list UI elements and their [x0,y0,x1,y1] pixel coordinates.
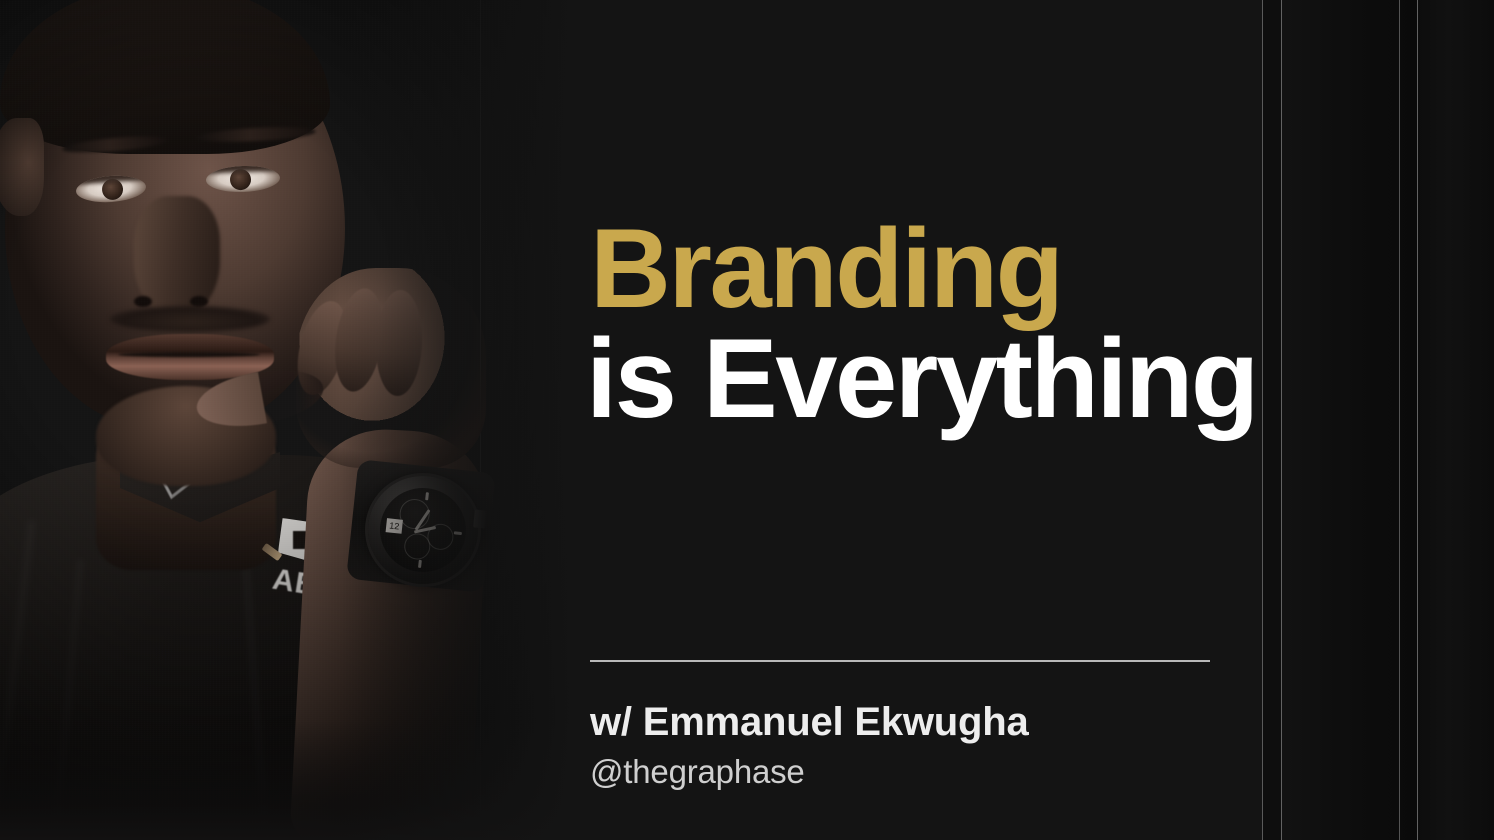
watch-index [425,492,429,500]
title-line-accent: Branding [590,214,1330,324]
social-handle: @thegraphase [590,753,805,791]
branding-slide: AB'ARD [0,0,1494,840]
background-panel-far-edge [1418,0,1494,840]
nostril [134,296,152,307]
title-line-white: is Everything [586,324,1330,434]
hairline-5 [1417,0,1418,840]
lip-line [118,352,260,357]
moustache [110,306,270,332]
presenter-name: w/ Emmanuel Ekwugha [590,700,1029,745]
section-divider [590,660,1210,662]
hairline-4 [1399,0,1400,840]
watch-date: 12 [386,518,403,534]
text-content: Branding is Everything w/ Emmanuel Ekwug… [590,0,1290,840]
page-title: Branding is Everything [590,214,1330,434]
ear [0,118,44,216]
portrait-photo: AB'ARD [0,0,600,840]
watch-index [418,560,422,568]
watch-index [454,531,462,535]
watch-crown [473,509,487,528]
